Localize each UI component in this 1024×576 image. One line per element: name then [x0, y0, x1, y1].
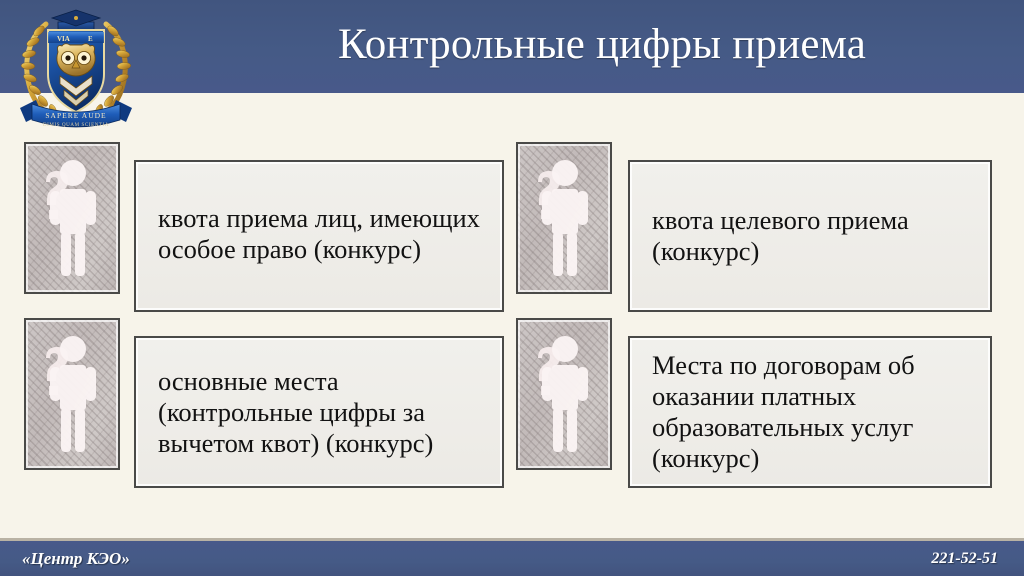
- card-label: основные места (контрольные цифры за выч…: [158, 366, 494, 459]
- card-quota-targeted[interactable]: квота целевого приема (конкурс): [516, 142, 992, 312]
- card-paid-contract-places[interactable]: Места по договорам об оказании платных о…: [516, 318, 992, 488]
- card-text-panel: Места по договорам об оказании платных о…: [628, 336, 992, 488]
- card-label: Места по договорам об оказании платных о…: [652, 350, 982, 474]
- footer-organization: «Центр КЭО»: [22, 549, 130, 569]
- svg-text:DIMIS QUAM SCIENTIA: DIMIS QUAM SCIENTIA: [43, 123, 109, 128]
- card-label: квота приема лиц, имеющих особое право (…: [158, 203, 494, 269]
- footer-bar: «Центр КЭО» 221-52-51: [0, 538, 1024, 576]
- card-main-places[interactable]: основные места (контрольные цифры за выч…: [24, 318, 504, 488]
- card-text-panel: квота приема лиц, имеющих особое право (…: [134, 160, 504, 312]
- crest-icon: VIA E SAPERE AUDE DIMIS QUAM SCIENTIA: [8, 2, 144, 134]
- card-text-panel: основные места (контрольные цифры за выч…: [134, 336, 504, 488]
- person-question-icon: [24, 318, 120, 470]
- page-title: Контрольные цифры приема: [180, 0, 1024, 93]
- shield-icon: VIA E: [48, 30, 104, 112]
- footer-phone: 221-52-51: [931, 550, 998, 568]
- svg-text:SAPERE AUDE: SAPERE AUDE: [45, 111, 106, 120]
- university-crest-logo: VIA E SAPERE AUDE DIMIS QUAM SCIENTIA: [8, 2, 144, 134]
- person-question-icon: [516, 142, 612, 294]
- person-question-icon: [24, 142, 120, 294]
- person-question-icon: [516, 318, 612, 470]
- svg-text:VIA: VIA: [57, 35, 70, 43]
- card-quota-special-right[interactable]: квота приема лиц, имеющих особое право (…: [24, 142, 504, 312]
- card-label: квота целевого приема (конкурс): [652, 205, 982, 267]
- card-text-panel: квота целевого приема (конкурс): [628, 160, 992, 312]
- svg-text:E: E: [88, 35, 93, 43]
